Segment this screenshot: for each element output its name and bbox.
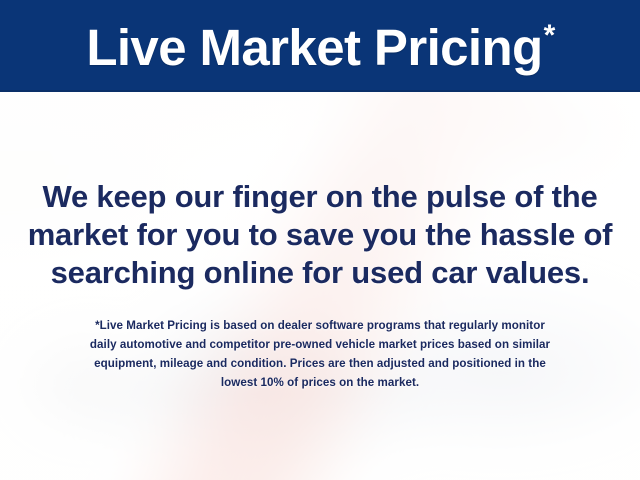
page-title-text: Live Market Pricing [86,19,542,76]
headline-line-1: We keep our finger on the pulse of the [20,178,620,216]
fineprint-line-1: *Live Market Pricing is based on dealer … [28,316,612,335]
header-banner: Live Market Pricing* [0,0,640,92]
copy-block: We keep our finger on the pulse of the m… [0,92,640,480]
page-title-asterisk: * [544,19,555,52]
fineprint-line-2: daily automotive and competitor pre-owne… [28,335,612,354]
fineprint-disclaimer: *Live Market Pricing is based on dealer … [28,316,612,392]
fineprint-line-4: lowest 10% of prices on the market. [28,373,612,392]
page-title: Live Market Pricing* [86,22,553,73]
headline-line-3: searching online for used car values. [20,254,620,292]
live-market-pricing-promo-card: Live Market Pricing* We keep our finger … [0,0,640,480]
headline-line-2: market for you to save you the hassle of [20,216,620,254]
headline: We keep our finger on the pulse of the m… [20,178,620,292]
fineprint-line-3: equipment, mileage and condition. Prices… [28,354,612,373]
